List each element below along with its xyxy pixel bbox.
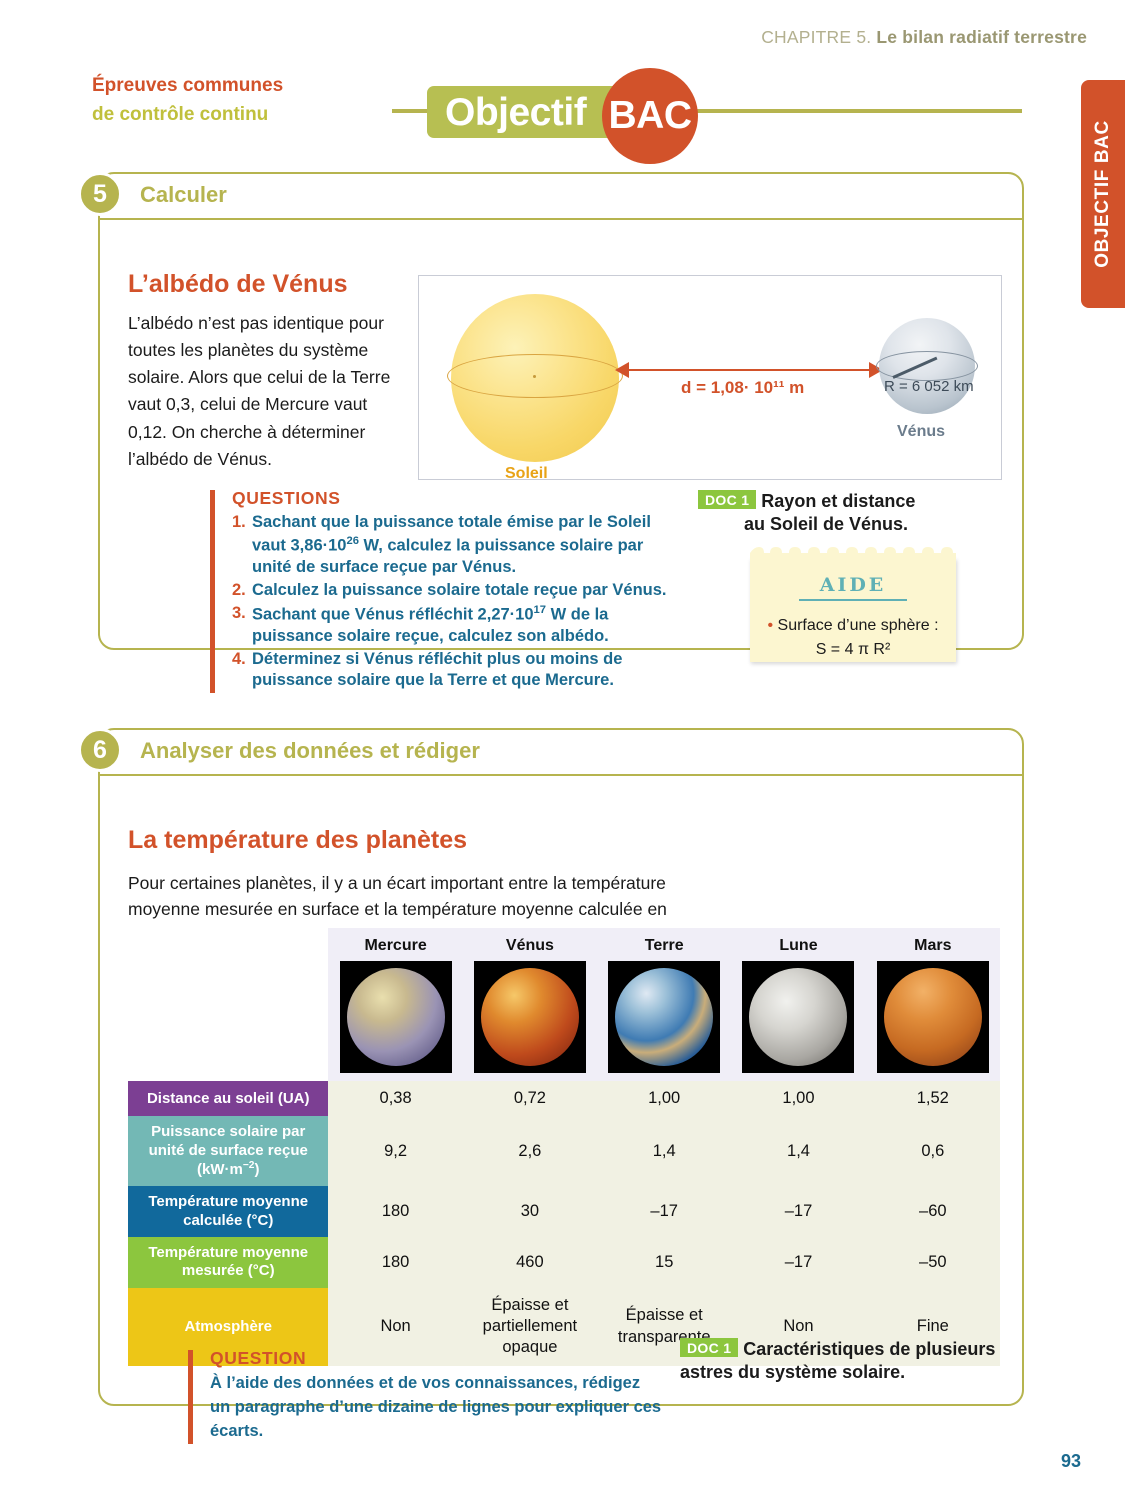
column-header-mars: Mars [866, 928, 1000, 961]
question-item: 1. Sachant que la puissance totale émise… [232, 512, 680, 579]
doc-caption-line-2: astres du système solaire. [680, 1361, 1000, 1384]
cell-distance-mars: 1,52 [866, 1081, 1000, 1116]
doc-caption-line-2: au Soleil de Vénus. [698, 513, 998, 536]
table-corner-cell [128, 928, 328, 961]
aide-note: AIDE • Surface d’une sphère : S = 4 π R² [750, 558, 956, 662]
table-header-row: Mercure Vénus Terre Lune Mars [128, 928, 1000, 961]
planet-photo-frame [742, 961, 854, 1073]
planet-photo-frame [877, 961, 989, 1073]
side-tab-objectif-bac: OBJECTIF BAC [1081, 80, 1125, 308]
exercise-5-skill: Calculer [140, 182, 227, 208]
chapter-running-head: CHAPITRE 5. Le bilan radiatif terrestre [761, 27, 1087, 48]
exercise-card-6: 6 Analyser des données et rédiger La tem… [98, 728, 1024, 1406]
bac-label: BAC [609, 94, 692, 138]
question-text: Sachant que Vénus réfléchit 2,27·1017 W … [252, 603, 680, 648]
column-header-lune: Lune [731, 928, 865, 961]
earth-globe [615, 968, 713, 1066]
question-line-1: À l’aide des données et de vos connaissa… [210, 1372, 708, 1396]
exercise-5-intro: L’albédo n’est pas identique pour toutes… [128, 310, 404, 473]
masthead-subtitle: Épreuves communes de contrôle continu [92, 72, 392, 129]
row-label-distance: Distance au soleil (UA) [128, 1081, 328, 1116]
venus-equator-ellipse [876, 351, 978, 381]
planet-image-mercure [328, 961, 462, 1081]
question-number: 3. [232, 603, 252, 648]
cell-tempcalc-lune: –17 [731, 1186, 865, 1237]
question-label: QUESTION [210, 1348, 708, 1369]
exercise-5-questions: QUESTIONS 1. Sachant que la puissance to… [210, 488, 680, 693]
exercise-6-intro-2: moyenne mesurée en surface et la tempéra… [128, 896, 728, 923]
question-text: Déterminez si Vénus réfléchit plus ou mo… [252, 649, 680, 693]
masthead-line-1: Épreuves communes [92, 72, 380, 101]
exercise-card-5: 5 Calculer L’albédo de Vénus L’albédo n’… [98, 172, 1024, 650]
chapter-title: Le bilan radiatif terrestre [876, 27, 1087, 47]
cell-puissance-venus: 2,6 [463, 1116, 597, 1186]
side-tab-label: OBJECTIF BAC [1092, 120, 1114, 268]
venus-label: Vénus [897, 423, 945, 441]
sun-center-dot [533, 375, 536, 378]
row-label-line-1: Puissance solaire par [134, 1123, 322, 1141]
bac-circle: BAC [602, 68, 698, 164]
cell-tempmes-venus: 460 [463, 1237, 597, 1288]
doc1-caption-exercise-6: DOC 1Caractéristiques de plusieurs astre… [680, 1338, 1000, 1385]
aide-item: Surface d’une sphère : [778, 617, 939, 634]
exercise-5-number: 5 [78, 172, 122, 216]
exercise-5-title: L’albédo de Vénus [128, 270, 348, 299]
table-row: Puissance solaire par unité de surface r… [128, 1116, 1000, 1186]
question-number: 2. [232, 580, 252, 602]
planet-photo-frame [340, 961, 452, 1073]
question-number: 4. [232, 649, 252, 693]
question-accent-bar [188, 1350, 193, 1444]
table-row: Température moyenne mesurée (°C) 180 460… [128, 1237, 1000, 1288]
cell-tempcalc-mercure: 180 [328, 1186, 462, 1237]
row-label-temp-calculee: Température moyenne calculée (°C) [128, 1186, 328, 1237]
distance-arrow-line [627, 369, 871, 371]
textbook-page: CHAPITRE 5. Le bilan radiatif terrestre … [0, 0, 1125, 1500]
row-label-line-3: (kW·m−2) [134, 1160, 322, 1179]
cell-puissance-mars: 0,6 [866, 1116, 1000, 1186]
cell-puissance-mercure: 9,2 [328, 1116, 462, 1186]
column-header-mercure: Mercure [328, 928, 462, 961]
masthead: Épreuves communes de contrôle continu Ob… [92, 72, 1022, 152]
doc1-caption-exercise-5: DOC 1Rayon et distance au Soleil de Vénu… [698, 490, 998, 537]
moon-globe [749, 968, 847, 1066]
mars-globe [884, 968, 982, 1066]
cell-tempcalc-mars: –60 [866, 1186, 1000, 1237]
cell-distance-lune: 1,00 [731, 1081, 865, 1116]
doc-caption-line-1: Rayon et distance [761, 491, 915, 511]
planet-image-mars [866, 961, 1000, 1081]
question-number: 1. [232, 512, 252, 579]
planet-image-lune [731, 961, 865, 1081]
figure-sun-venus: Soleil d = 1,08· 10¹¹ m R = 6 052 km Vén… [418, 275, 1002, 480]
doc-tag: DOC 1 [698, 490, 756, 509]
exercise-6-header: 6 Analyser des données et rédiger [100, 730, 1022, 776]
questions-accent-bar [210, 490, 215, 693]
doc-tag: DOC 1 [680, 1338, 738, 1357]
distance-label: d = 1,08· 10¹¹ m [681, 378, 804, 398]
question-line-2: un paragraphe d’une dizaine de lignes po… [210, 1396, 708, 1444]
column-header-terre: Terre [597, 928, 731, 961]
cell-puissance-terre: 1,4 [597, 1116, 731, 1186]
row-label-line-2: calculée (°C) [134, 1212, 322, 1230]
cell-distance-terre: 1,00 [597, 1081, 731, 1116]
exercise-6-title: La température des planètes [128, 826, 467, 855]
table-row: Distance au soleil (UA) 0,38 0,72 1,00 1… [128, 1081, 1000, 1116]
sun-label: Soleil [505, 465, 548, 483]
row-label-line-1: Température moyenne [134, 1193, 322, 1211]
table-image-row [128, 961, 1000, 1081]
row-label-line-2: mesurée (°C) [134, 1262, 322, 1280]
page-number: 93 [1061, 1451, 1081, 1472]
aide-formula: S = 4 π R² [750, 638, 956, 661]
chapter-prefix: CHAPITRE 5. [761, 27, 871, 47]
torn-edge-icon [750, 547, 956, 559]
planet-image-venus [463, 961, 597, 1081]
masthead-line-2: de contrôle continu [92, 101, 380, 130]
column-header-venus: Vénus [463, 928, 597, 961]
row-label-puissance: Puissance solaire par unité de surface r… [128, 1116, 328, 1186]
aide-underline [799, 599, 907, 601]
row-label-line-2: unité de surface reçue [134, 1142, 322, 1160]
cell-tempcalc-venus: 30 [463, 1186, 597, 1237]
cell-tempcalc-terre: –17 [597, 1186, 731, 1237]
cell-distance-mercure: 0,38 [328, 1081, 462, 1116]
planet-photo-frame [474, 961, 586, 1073]
cell-tempmes-terre: 15 [597, 1237, 731, 1288]
exercise-5-header: 5 Calculer [100, 174, 1022, 220]
aide-content: • Surface d’une sphère : S = 4 π R² [750, 614, 956, 660]
aide-bullet-icon: • [767, 617, 773, 634]
cell-distance-venus: 0,72 [463, 1081, 597, 1116]
cell-puissance-lune: 1,4 [731, 1116, 865, 1186]
cell-tempmes-mars: –50 [866, 1237, 1000, 1288]
table-image-corner [128, 961, 328, 1081]
exercise-6-number: 6 [78, 728, 122, 772]
row-label-temp-mesuree: Température moyenne mesurée (°C) [128, 1237, 328, 1288]
aide-title: AIDE [750, 574, 956, 596]
cell-tempmes-lune: –17 [731, 1237, 865, 1288]
exercise-6-skill: Analyser des données et rédiger [140, 738, 480, 764]
planet-data-table: Mercure Vénus Terre Lune Mars [128, 928, 1000, 1366]
planet-photo-frame [608, 961, 720, 1073]
planet-image-terre [597, 961, 731, 1081]
question-text: Calculez la puissance solaire totale reç… [252, 580, 667, 602]
row-label-line-1: Température moyenne [134, 1244, 322, 1262]
question-text: Sachant que la puissance totale émise pa… [252, 512, 680, 579]
questions-label: QUESTIONS [232, 488, 680, 509]
venus-radius-label: R = 6 052 km [884, 378, 974, 395]
venus-globe [481, 968, 579, 1066]
exercise-6-question: QUESTION À l’aide des données et de vos … [188, 1348, 708, 1444]
question-item: 3. Sachant que Vénus réfléchit 2,27·1017… [232, 603, 680, 648]
exercise-6-intro-1: Pour certaines planètes, il y a un écart… [128, 870, 728, 897]
table-row: Température moyenne calculée (°C) 180 30… [128, 1186, 1000, 1237]
question-item: 2. Calculez la puissance solaire totale … [232, 580, 680, 602]
question-item: 4. Déterminez si Vénus réfléchit plus ou… [232, 649, 680, 693]
mercury-globe [347, 968, 445, 1066]
doc-caption-line-1: Caractéristiques de plusieurs [743, 1339, 995, 1359]
objectif-label: Objectif [445, 93, 586, 132]
cell-tempmes-mercure: 180 [328, 1237, 462, 1288]
